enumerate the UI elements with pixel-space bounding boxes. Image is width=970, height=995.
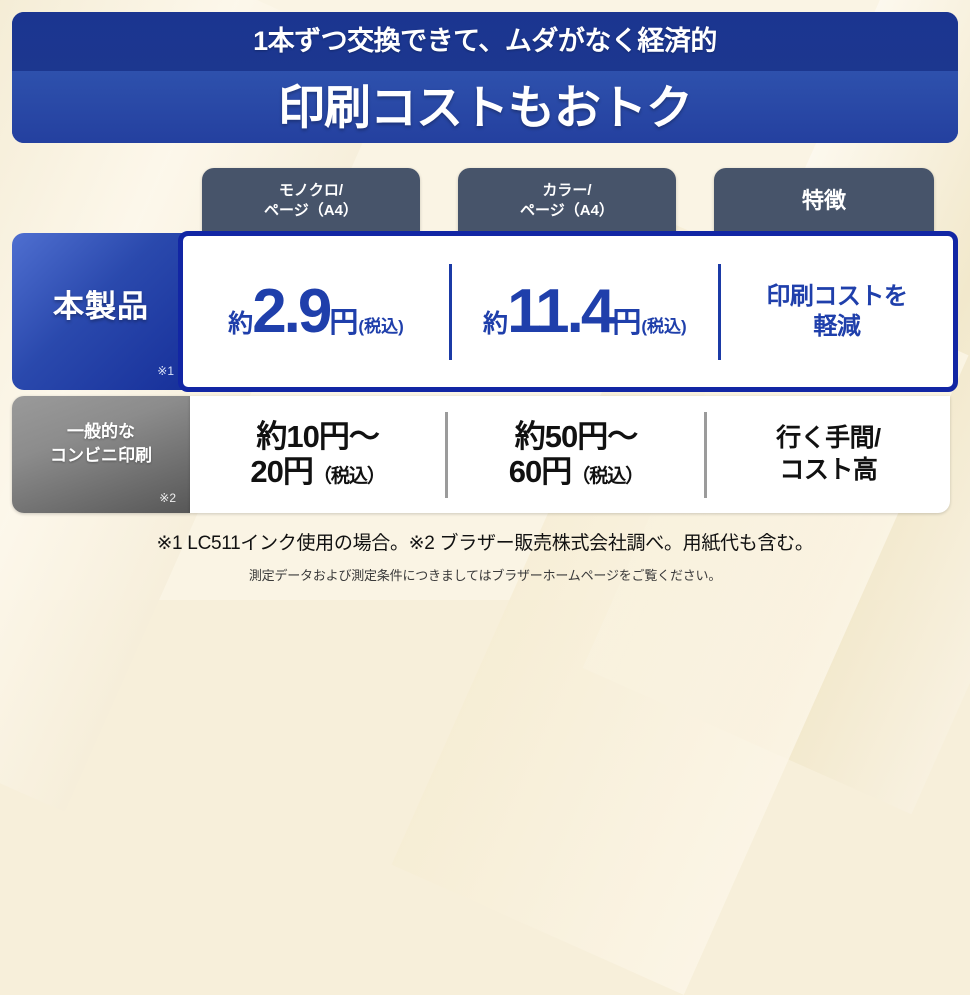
product-monochrome-approx: 約: [228, 312, 252, 337]
convenience-row-label-line1: 一般的な: [67, 422, 135, 441]
column-tab-color: カラー/ ページ（A4）: [458, 168, 676, 234]
headline-title: 印刷コストもおトク: [278, 84, 692, 131]
convenience-color-line1: 約50円〜: [509, 420, 644, 454]
column-tab-feature: 特徴: [714, 168, 934, 234]
convenience-color-line2: 60円（税込）: [509, 455, 644, 489]
convenience-row-values-card: 約10円〜 20円（税込） 約50円〜 60円（税込） 行く: [190, 396, 950, 513]
convenience-row-footnote-marker: ※2: [159, 491, 176, 505]
product-color-yen: 円: [612, 309, 641, 338]
convenience-feature-text: 行く手間/ コスト高: [776, 423, 880, 486]
product-row-label: 本製品: [12, 281, 190, 326]
product-color-approx: 約: [483, 312, 507, 337]
product-color-number: 11.4: [507, 281, 612, 343]
product-color-tax: (税込): [641, 318, 686, 335]
convenience-color-tax: （税込）: [571, 466, 643, 487]
convenience-row-label: 一般的な コンビニ印刷: [12, 420, 190, 468]
product-monochrome-tax: (税込): [358, 318, 403, 335]
product-feature-cell: 印刷コストを 軽減: [721, 236, 953, 387]
product-monochrome-yen: 円: [329, 309, 358, 338]
product-feature-line2: 軽減: [813, 313, 860, 340]
convenience-monochrome-tax: （税込）: [313, 466, 385, 487]
headline-subtitle: 1本ずつ交換できて、ムダがなく経済的: [253, 28, 717, 55]
convenience-color-line2-value: 60円: [509, 454, 571, 489]
product-row-values-card: 約 2.9 円 (税込) 約 11.4 円 (税込) 印刷コストを: [178, 231, 958, 392]
column-tab-monochrome-line2: ページ（A4）: [264, 202, 358, 219]
product-monochrome-price-cell: 約 2.9 円 (税込): [183, 236, 449, 387]
headline-subtitle-band: 1本ずつ交換できて、ムダがなく経済的: [12, 12, 958, 71]
column-tab-feature-label: 特徴: [802, 186, 846, 216]
convenience-row: 一般的な コンビニ印刷 ※2 約10円〜 20円（税込） 約50円〜: [12, 396, 958, 513]
product-monochrome-price: 約 2.9 円 (税込): [228, 281, 404, 343]
headline-title-band: 印刷コストもおトク: [12, 71, 958, 143]
convenience-color-price-cell: 約50円〜 60円（税込）: [448, 396, 703, 513]
convenience-feature-line2: コスト高: [779, 456, 877, 484]
product-feature-text: 印刷コストを 軽減: [766, 282, 907, 342]
convenience-color-price: 約50円〜 60円（税込）: [509, 420, 644, 488]
product-color-price: 約 11.4 円 (税込): [483, 281, 687, 343]
footnote-secondary: 測定データおよび測定条件につきましてはブラザーホームページをご覧ください。: [0, 565, 970, 584]
product-row-footnote-marker: ※1: [157, 364, 174, 378]
product-row: 本製品 ※1 約 2.9 円 (税込) 約 11.4 円 (税込): [12, 233, 958, 390]
infographic-page: 1本ずつ交換できて、ムダがなく経済的 印刷コストもおトク モノクロ/ ページ（A…: [0, 0, 970, 600]
convenience-monochrome-line2-value: 20円: [250, 454, 312, 489]
convenience-feature-line1: 行く手間/: [776, 424, 880, 452]
footnotes: ※1 LC511インク使用の場合。※2 ブラザー販売株式会社調べ。用紙代も含む。…: [0, 528, 970, 584]
product-row-label-cell: 本製品 ※1: [12, 233, 190, 390]
column-tab-monochrome-line1: モノクロ/: [279, 182, 343, 199]
column-tab-monochrome: モノクロ/ ページ（A4）: [202, 168, 420, 234]
product-feature-line1: 印刷コストを: [766, 283, 907, 310]
column-header-tabs: モノクロ/ ページ（A4） カラー/ ページ（A4） 特徴: [0, 168, 970, 234]
column-tab-color-line1: カラー/: [542, 182, 591, 199]
convenience-row-label-line2: コンビニ印刷: [50, 446, 152, 465]
convenience-monochrome-price-cell: 約10円〜 20円（税込）: [190, 396, 445, 513]
convenience-monochrome-line1: 約10円〜: [250, 420, 385, 454]
column-tab-color-line2: ページ（A4）: [520, 202, 614, 219]
footnote-primary: ※1 LC511インク使用の場合。※2 ブラザー販売株式会社調べ。用紙代も含む。: [0, 528, 970, 555]
convenience-feature-cell: 行く手間/ コスト高: [707, 396, 950, 513]
product-monochrome-number: 2.9: [252, 281, 329, 343]
product-color-price-cell: 約 11.4 円 (税込): [452, 236, 718, 387]
headline-banner: 1本ずつ交換できて、ムダがなく経済的 印刷コストもおトク: [12, 12, 958, 143]
convenience-row-label-cell: 一般的な コンビニ印刷 ※2: [12, 396, 190, 513]
convenience-monochrome-line2: 20円（税込）: [250, 455, 385, 489]
convenience-monochrome-price: 約10円〜 20円（税込）: [250, 420, 385, 488]
